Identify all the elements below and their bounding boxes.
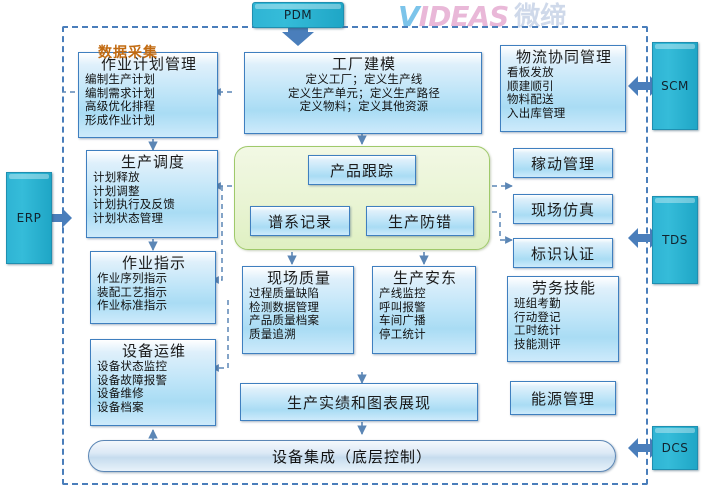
module-item: 过程质量缺陷	[249, 287, 349, 301]
module-production-error-proofing[interactable]: 生产防错	[366, 206, 474, 236]
module-item: 计划执行及反馈	[93, 198, 213, 212]
module-production-scheduling[interactable]: 生产调度 计划释放 计划调整 计划执行及反馈 计划状态管理	[86, 150, 218, 238]
module-title: 劳务技能	[514, 279, 614, 297]
module-item: 计划释放	[93, 171, 213, 185]
module-item: 入出库管理	[507, 107, 621, 121]
module-item: 高级优化排程	[85, 100, 213, 114]
module-item: 编制生产计划	[85, 73, 213, 87]
module-item: 顺建顺引	[507, 80, 621, 94]
module-item: 作业序列指示	[97, 272, 211, 286]
module-title: 作业指示	[97, 254, 211, 272]
module-item: 班组考勤	[514, 297, 614, 311]
external-system-tds[interactable]: TDS	[652, 196, 698, 284]
data-collection-label: 数据采集	[0, 42, 256, 62]
module-shopfloor-simulation[interactable]: 现场仿真	[513, 194, 613, 224]
module-title: 标识认证	[531, 243, 595, 264]
module-title: 生产安东	[379, 269, 471, 287]
module-production-andon[interactable]: 生产安东 产线监控 呼叫报警 车间广播 停工统计	[372, 266, 476, 354]
module-item: 质量追溯	[249, 328, 349, 342]
external-system-dcs[interactable]: DCS	[652, 426, 698, 470]
module-equipment-integration[interactable]: 设备集成（底层控制）	[88, 440, 616, 472]
dcs-highlight	[655, 428, 695, 433]
module-title: 谱系记录	[268, 211, 332, 232]
module-production-report-chart[interactable]: 生产实绩和图表展现	[240, 383, 478, 421]
module-logistics-collaboration[interactable]: 物流协同管理 看板发放 顺建顺引 物料配送 入出库管理	[500, 45, 626, 132]
module-shopfloor-quality[interactable]: 现场质量 过程质量缺陷 检测数据管理 产品质量档案 质量追溯	[242, 266, 354, 354]
module-title: 产品跟踪	[330, 160, 394, 181]
module-item: 计划状态管理	[93, 212, 213, 226]
module-work-instruction[interactable]: 作业指示 作业序列指示 装配工艺指示 作业标准指示	[90, 251, 216, 324]
module-item: 看板发放	[507, 66, 621, 80]
module-utilization-management[interactable]: 稼动管理	[513, 148, 613, 178]
module-title: 能源管理	[531, 388, 595, 409]
tds-highlight	[655, 198, 695, 203]
module-title: 稼动管理	[531, 153, 595, 174]
module-item: 技能测评	[514, 338, 614, 352]
external-erp-label: ERP	[17, 211, 42, 225]
module-item: 工时统计	[514, 324, 614, 338]
module-item: 作业标准指示	[97, 299, 211, 313]
module-item: 编制需求计划	[85, 87, 213, 101]
module-item: 产线监控	[379, 287, 471, 301]
module-item: 定义工厂；定义生产线	[251, 73, 477, 87]
module-item: 呼叫报警	[379, 301, 471, 315]
module-production-plan-management[interactable]: 作业计划管理 编制生产计划 编制需求计划 高级优化排程 形成作业计划	[78, 52, 218, 138]
module-identification-certification[interactable]: 标识认证	[513, 238, 613, 268]
module-factory-modeling[interactable]: 工厂建模 定义工厂；定义生产线 定义生产单元；定义生产路径 定义物料；定义其他资…	[244, 52, 482, 134]
module-item: 定义生产单元；定义生产路径	[251, 87, 477, 101]
external-dcs-label: DCS	[662, 441, 689, 455]
module-title: 现场质量	[249, 269, 349, 287]
module-item: 形成作业计划	[85, 114, 213, 128]
external-system-pdm[interactable]: PDM	[252, 2, 344, 28]
module-item: 装配工艺指示	[97, 286, 211, 300]
module-item: 行动登记	[514, 311, 614, 325]
diagram-canvas: VIDEAS 微缔	[0, 0, 702, 490]
scm-highlight	[655, 44, 695, 49]
module-item: 设备维修	[97, 387, 211, 401]
erp-highlight	[9, 174, 49, 179]
module-title: 现场仿真	[531, 199, 595, 220]
module-title: 生产防错	[388, 211, 452, 232]
pdm-highlight	[255, 4, 341, 9]
external-tds-label: TDS	[662, 233, 688, 247]
module-genealogy-record[interactable]: 谱系记录	[250, 206, 350, 236]
module-title: 生产实绩和图表展现	[287, 392, 431, 413]
external-system-scm[interactable]: SCM	[652, 42, 698, 130]
external-pdm-label: PDM	[284, 8, 312, 22]
module-equipment-maintenance[interactable]: 设备运维 设备状态监控 设备故障报警 设备维修 设备档案	[90, 339, 216, 426]
module-product-tracking[interactable]: 产品跟踪	[308, 155, 416, 185]
external-system-erp[interactable]: ERP	[6, 172, 52, 264]
module-item: 停工统计	[379, 328, 471, 342]
module-item: 检测数据管理	[249, 301, 349, 315]
module-title: 物流协同管理	[507, 48, 621, 66]
module-item: 设备档案	[97, 401, 211, 415]
module-title: 生产调度	[93, 153, 213, 171]
module-energy-management[interactable]: 能源管理	[510, 381, 616, 415]
external-scm-label: SCM	[661, 79, 689, 93]
module-item: 设备故障报警	[97, 374, 211, 388]
module-labor-skill[interactable]: 劳务技能 班组考勤 行动登记 工时统计 技能测评	[507, 276, 619, 362]
module-title: 设备集成（底层控制）	[272, 446, 432, 467]
module-item: 车间广播	[379, 314, 471, 328]
module-item: 产品质量档案	[249, 314, 349, 328]
module-item: 计划调整	[93, 185, 213, 199]
module-item: 物料配送	[507, 93, 621, 107]
module-title: 工厂建模	[251, 55, 477, 73]
module-item: 设备状态监控	[97, 360, 211, 374]
module-title: 设备运维	[97, 342, 211, 360]
module-item: 定义物料；定义其他资源	[251, 100, 477, 114]
